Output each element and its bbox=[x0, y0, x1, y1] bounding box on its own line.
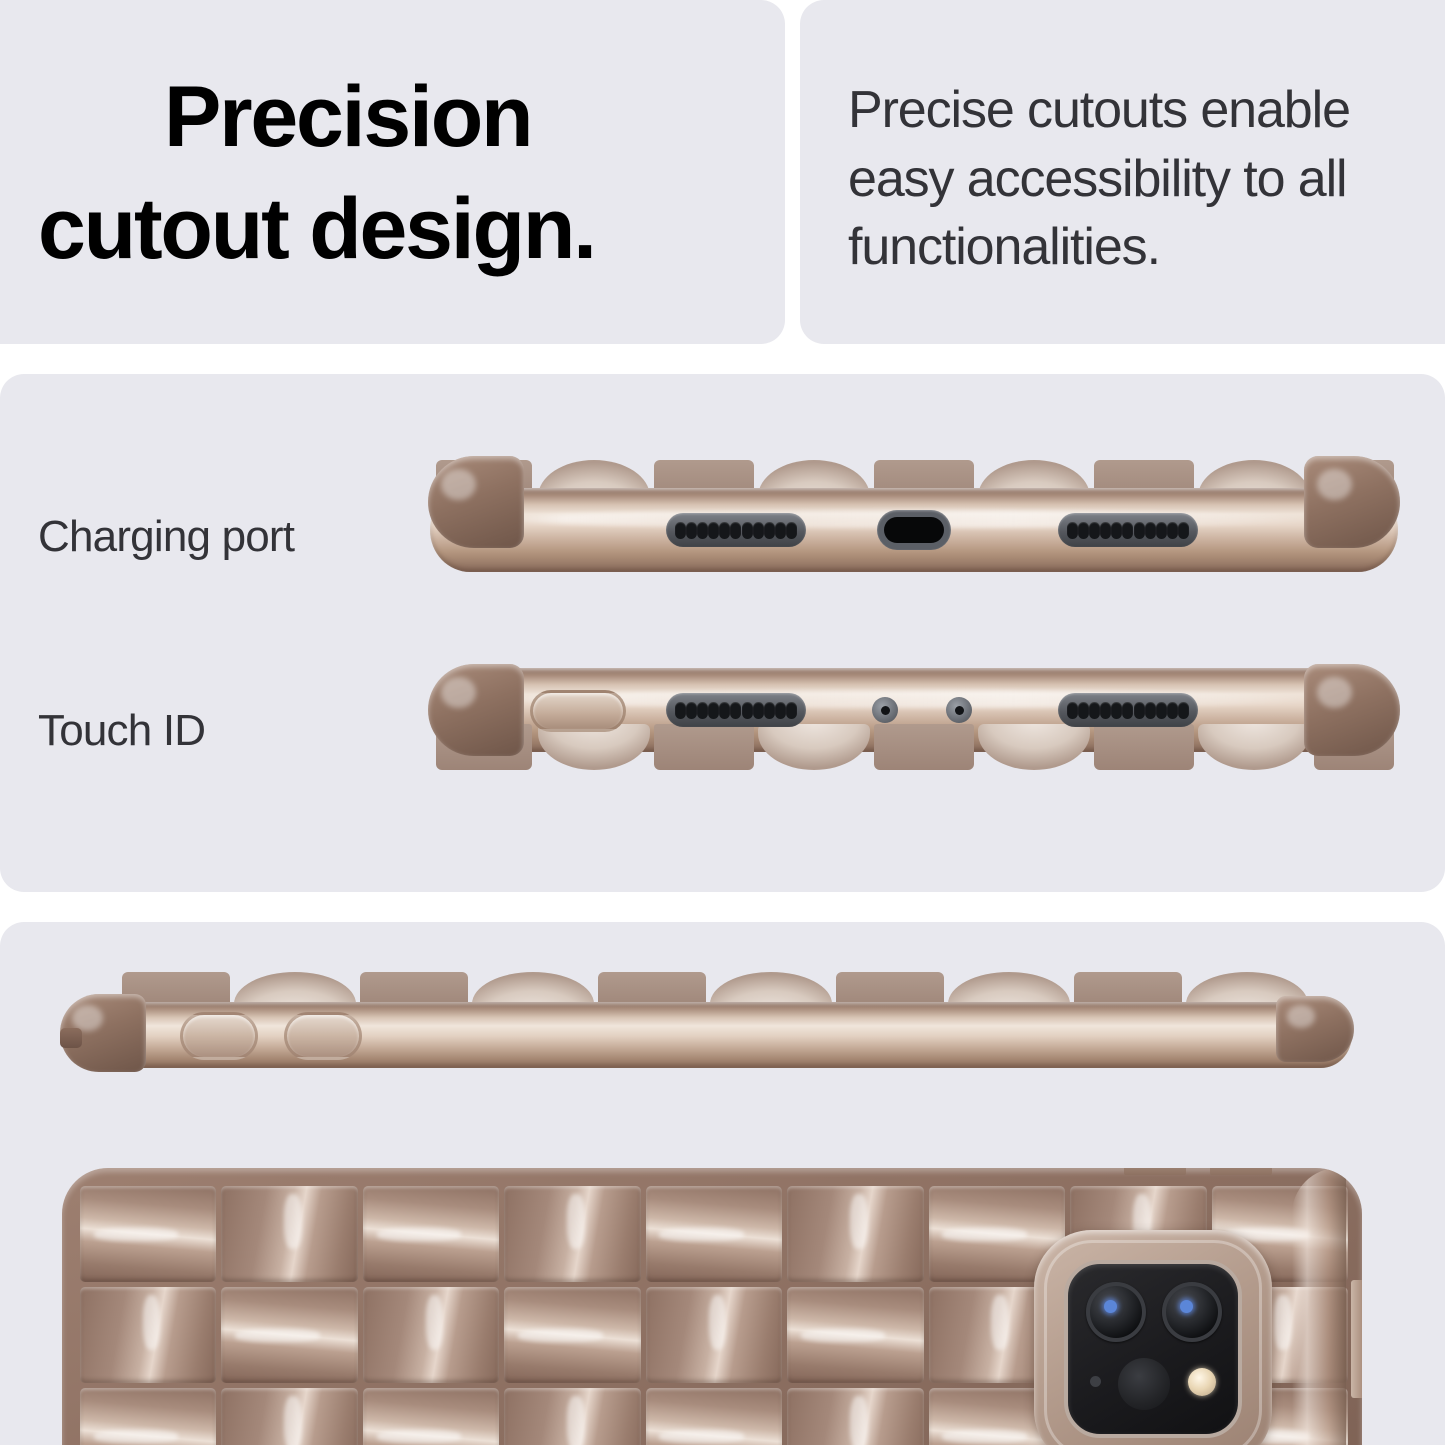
headline-line-1: Precision bbox=[38, 62, 768, 174]
volume-down-button-icon[interactable] bbox=[284, 1012, 362, 1060]
feature-label-touch-id: Touch ID bbox=[38, 706, 205, 756]
volume-button-nub-icon bbox=[1124, 1168, 1186, 1175]
speaker-grille-icon bbox=[1058, 693, 1198, 727]
camera-plate bbox=[1064, 1260, 1242, 1438]
side-button-icon[interactable] bbox=[1351, 1280, 1362, 1398]
speaker-grille-icon bbox=[1058, 513, 1198, 547]
product-feature-page: Precision cutout design. Precise cutouts… bbox=[0, 0, 1445, 1445]
device-side-edge-view bbox=[62, 972, 1352, 1084]
device-charging-edge-view bbox=[430, 460, 1398, 570]
microphone-icon bbox=[1090, 1376, 1101, 1387]
case-corner-bumper-left bbox=[428, 456, 524, 548]
page-title: Precision cutout design. bbox=[38, 62, 768, 286]
case-corner-bumper-right bbox=[1276, 996, 1354, 1062]
case-corner-bumper-right bbox=[1304, 664, 1400, 756]
usb-c-port-icon bbox=[877, 510, 951, 550]
speaker-grille-icon bbox=[666, 513, 806, 547]
side-view-panel bbox=[0, 922, 1445, 1445]
case-back-view bbox=[62, 1168, 1362, 1445]
volume-up-button-icon[interactable] bbox=[180, 1012, 258, 1060]
microphone-icon bbox=[872, 697, 898, 723]
headline-card: Precision cutout design. bbox=[0, 0, 785, 344]
feature-label-charging-port: Charging port bbox=[38, 512, 294, 562]
camera-lens-icon bbox=[1086, 1282, 1146, 1342]
case-edge-rail bbox=[1292, 1168, 1346, 1445]
lidar-sensor-icon bbox=[1118, 1358, 1170, 1410]
device-touchid-edge-view bbox=[430, 654, 1398, 770]
microphone-icon bbox=[946, 697, 972, 723]
flash-icon bbox=[1188, 1368, 1216, 1396]
camera-lens-icon bbox=[1162, 1282, 1222, 1342]
cutout-detail-panel: Charging port Touch ID bbox=[0, 374, 1445, 892]
case-corner-bumper-right bbox=[1304, 456, 1400, 548]
speaker-grille-icon bbox=[666, 693, 806, 727]
touch-id-button-icon[interactable] bbox=[530, 690, 626, 732]
description-text: Precise cutouts enable easy accessibilit… bbox=[848, 76, 1428, 282]
power-button-nub-icon bbox=[1210, 1168, 1272, 1175]
case-corner-bumper-left bbox=[428, 664, 524, 756]
camera-module bbox=[1034, 1230, 1272, 1445]
description-card: Precise cutouts enable easy accessibilit… bbox=[800, 0, 1445, 344]
antenna-nub-icon bbox=[60, 1028, 82, 1048]
headline-line-2: cutout design. bbox=[38, 174, 768, 286]
